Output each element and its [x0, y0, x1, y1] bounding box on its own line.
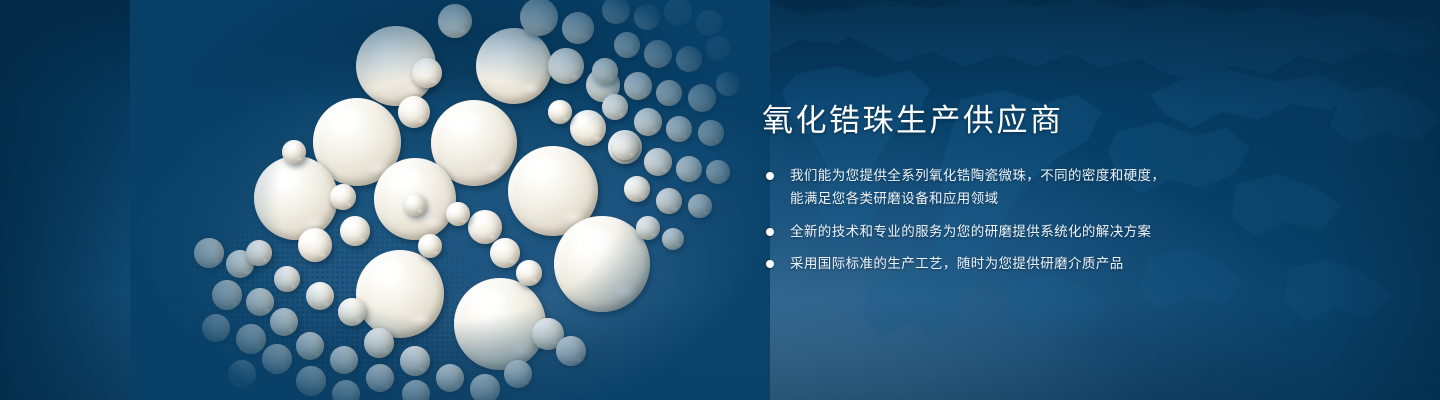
- bead: [562, 12, 594, 44]
- bead: [438, 4, 472, 38]
- bead: [548, 48, 584, 84]
- bead: [614, 32, 640, 58]
- bead: [296, 332, 324, 360]
- list-item-line1: 我们能为您提供全系列氧化锆陶瓷微珠，不同的密度和硬度，: [790, 168, 1165, 183]
- bead: [698, 120, 724, 146]
- bullet-dot-icon: [766, 260, 774, 268]
- bead: [282, 140, 306, 164]
- bead: [634, 4, 660, 30]
- bead: [664, 0, 692, 26]
- bead: [306, 282, 334, 310]
- bead: [676, 156, 702, 182]
- bead: [254, 156, 338, 240]
- bead: [688, 84, 716, 112]
- bead: [470, 374, 500, 400]
- banner-copy: 氧化锆珠生产供应商 我们能为您提供全系列氧化锆陶瓷微珠，不同的密度和硬度， 能满…: [762, 104, 1322, 284]
- bead: [338, 298, 366, 326]
- hero-banner: 氧化锆珠生产供应商 我们能为您提供全系列氧化锆陶瓷微珠，不同的密度和硬度， 能满…: [0, 0, 1440, 400]
- bead: [402, 380, 430, 400]
- bead: [612, 134, 638, 160]
- bead: [400, 346, 430, 376]
- bead: [656, 188, 682, 214]
- bead: [570, 110, 606, 146]
- list-item: 全新的技术和专业的服务为您的研磨提供系统化的解决方案: [762, 220, 1322, 243]
- list-item: 采用国际标准的生产工艺，随时为您提供研磨介质产品: [762, 252, 1322, 275]
- bead: [332, 380, 360, 400]
- bead: [454, 278, 546, 370]
- list-item-line2: 能满足您各类研磨设备和应用领域: [790, 187, 1322, 210]
- list-item: 我们能为您提供全系列氧化锆陶瓷微珠，不同的密度和硬度， 能满足您各类研磨设备和应…: [762, 164, 1322, 210]
- bead: [602, 0, 630, 24]
- bead: [706, 36, 730, 60]
- bead: [476, 28, 552, 104]
- zirconia-beads-photo: [150, 0, 750, 400]
- list-item-line1: 全新的技术和专业的服务为您的研磨提供系统化的解决方案: [790, 224, 1151, 239]
- bead: [364, 328, 394, 358]
- bead: [262, 344, 292, 374]
- bead: [520, 0, 558, 36]
- bead: [194, 238, 224, 268]
- bead: [490, 238, 520, 268]
- bead: [398, 96, 430, 128]
- bead: [602, 94, 628, 120]
- bead: [330, 346, 358, 374]
- bullet-dot-icon: [766, 172, 774, 180]
- bead: [236, 324, 266, 354]
- bead-cluster: [150, 0, 750, 400]
- bead: [246, 288, 274, 316]
- bead: [356, 250, 444, 338]
- bead: [634, 108, 662, 136]
- feature-list: 我们能为您提供全系列氧化锆陶瓷微珠，不同的密度和硬度， 能满足您各类研磨设备和应…: [762, 164, 1322, 275]
- bead: [706, 160, 730, 184]
- bead: [404, 194, 426, 216]
- bead: [246, 240, 272, 266]
- bead: [274, 266, 300, 292]
- bead: [666, 116, 692, 142]
- list-item-line1: 采用国际标准的生产工艺，随时为您提供研磨介质产品: [790, 256, 1124, 271]
- bead: [330, 184, 356, 210]
- bead: [436, 364, 464, 392]
- page-title: 氧化锆珠生产供应商: [762, 104, 1322, 138]
- bead: [556, 336, 586, 366]
- bead: [412, 58, 442, 88]
- bead: [624, 176, 650, 202]
- bead: [516, 260, 542, 286]
- bead: [716, 72, 740, 96]
- bead: [202, 314, 230, 342]
- bead: [366, 364, 394, 392]
- bead: [212, 280, 242, 310]
- bead: [624, 72, 652, 100]
- bead: [696, 10, 722, 36]
- bead: [446, 202, 470, 226]
- bead: [548, 100, 572, 124]
- bead: [418, 234, 442, 258]
- bead: [636, 216, 660, 240]
- bead: [296, 366, 326, 396]
- bead: [656, 80, 682, 106]
- bead: [592, 58, 618, 84]
- bead: [644, 40, 672, 68]
- bead: [504, 360, 532, 388]
- bead: [662, 228, 684, 250]
- bead: [676, 46, 702, 72]
- bead: [688, 194, 712, 218]
- bead: [340, 216, 370, 246]
- bullet-dot-icon: [766, 228, 774, 236]
- bead: [644, 148, 672, 176]
- bead: [228, 360, 256, 388]
- bead: [270, 308, 298, 336]
- bead: [298, 228, 332, 262]
